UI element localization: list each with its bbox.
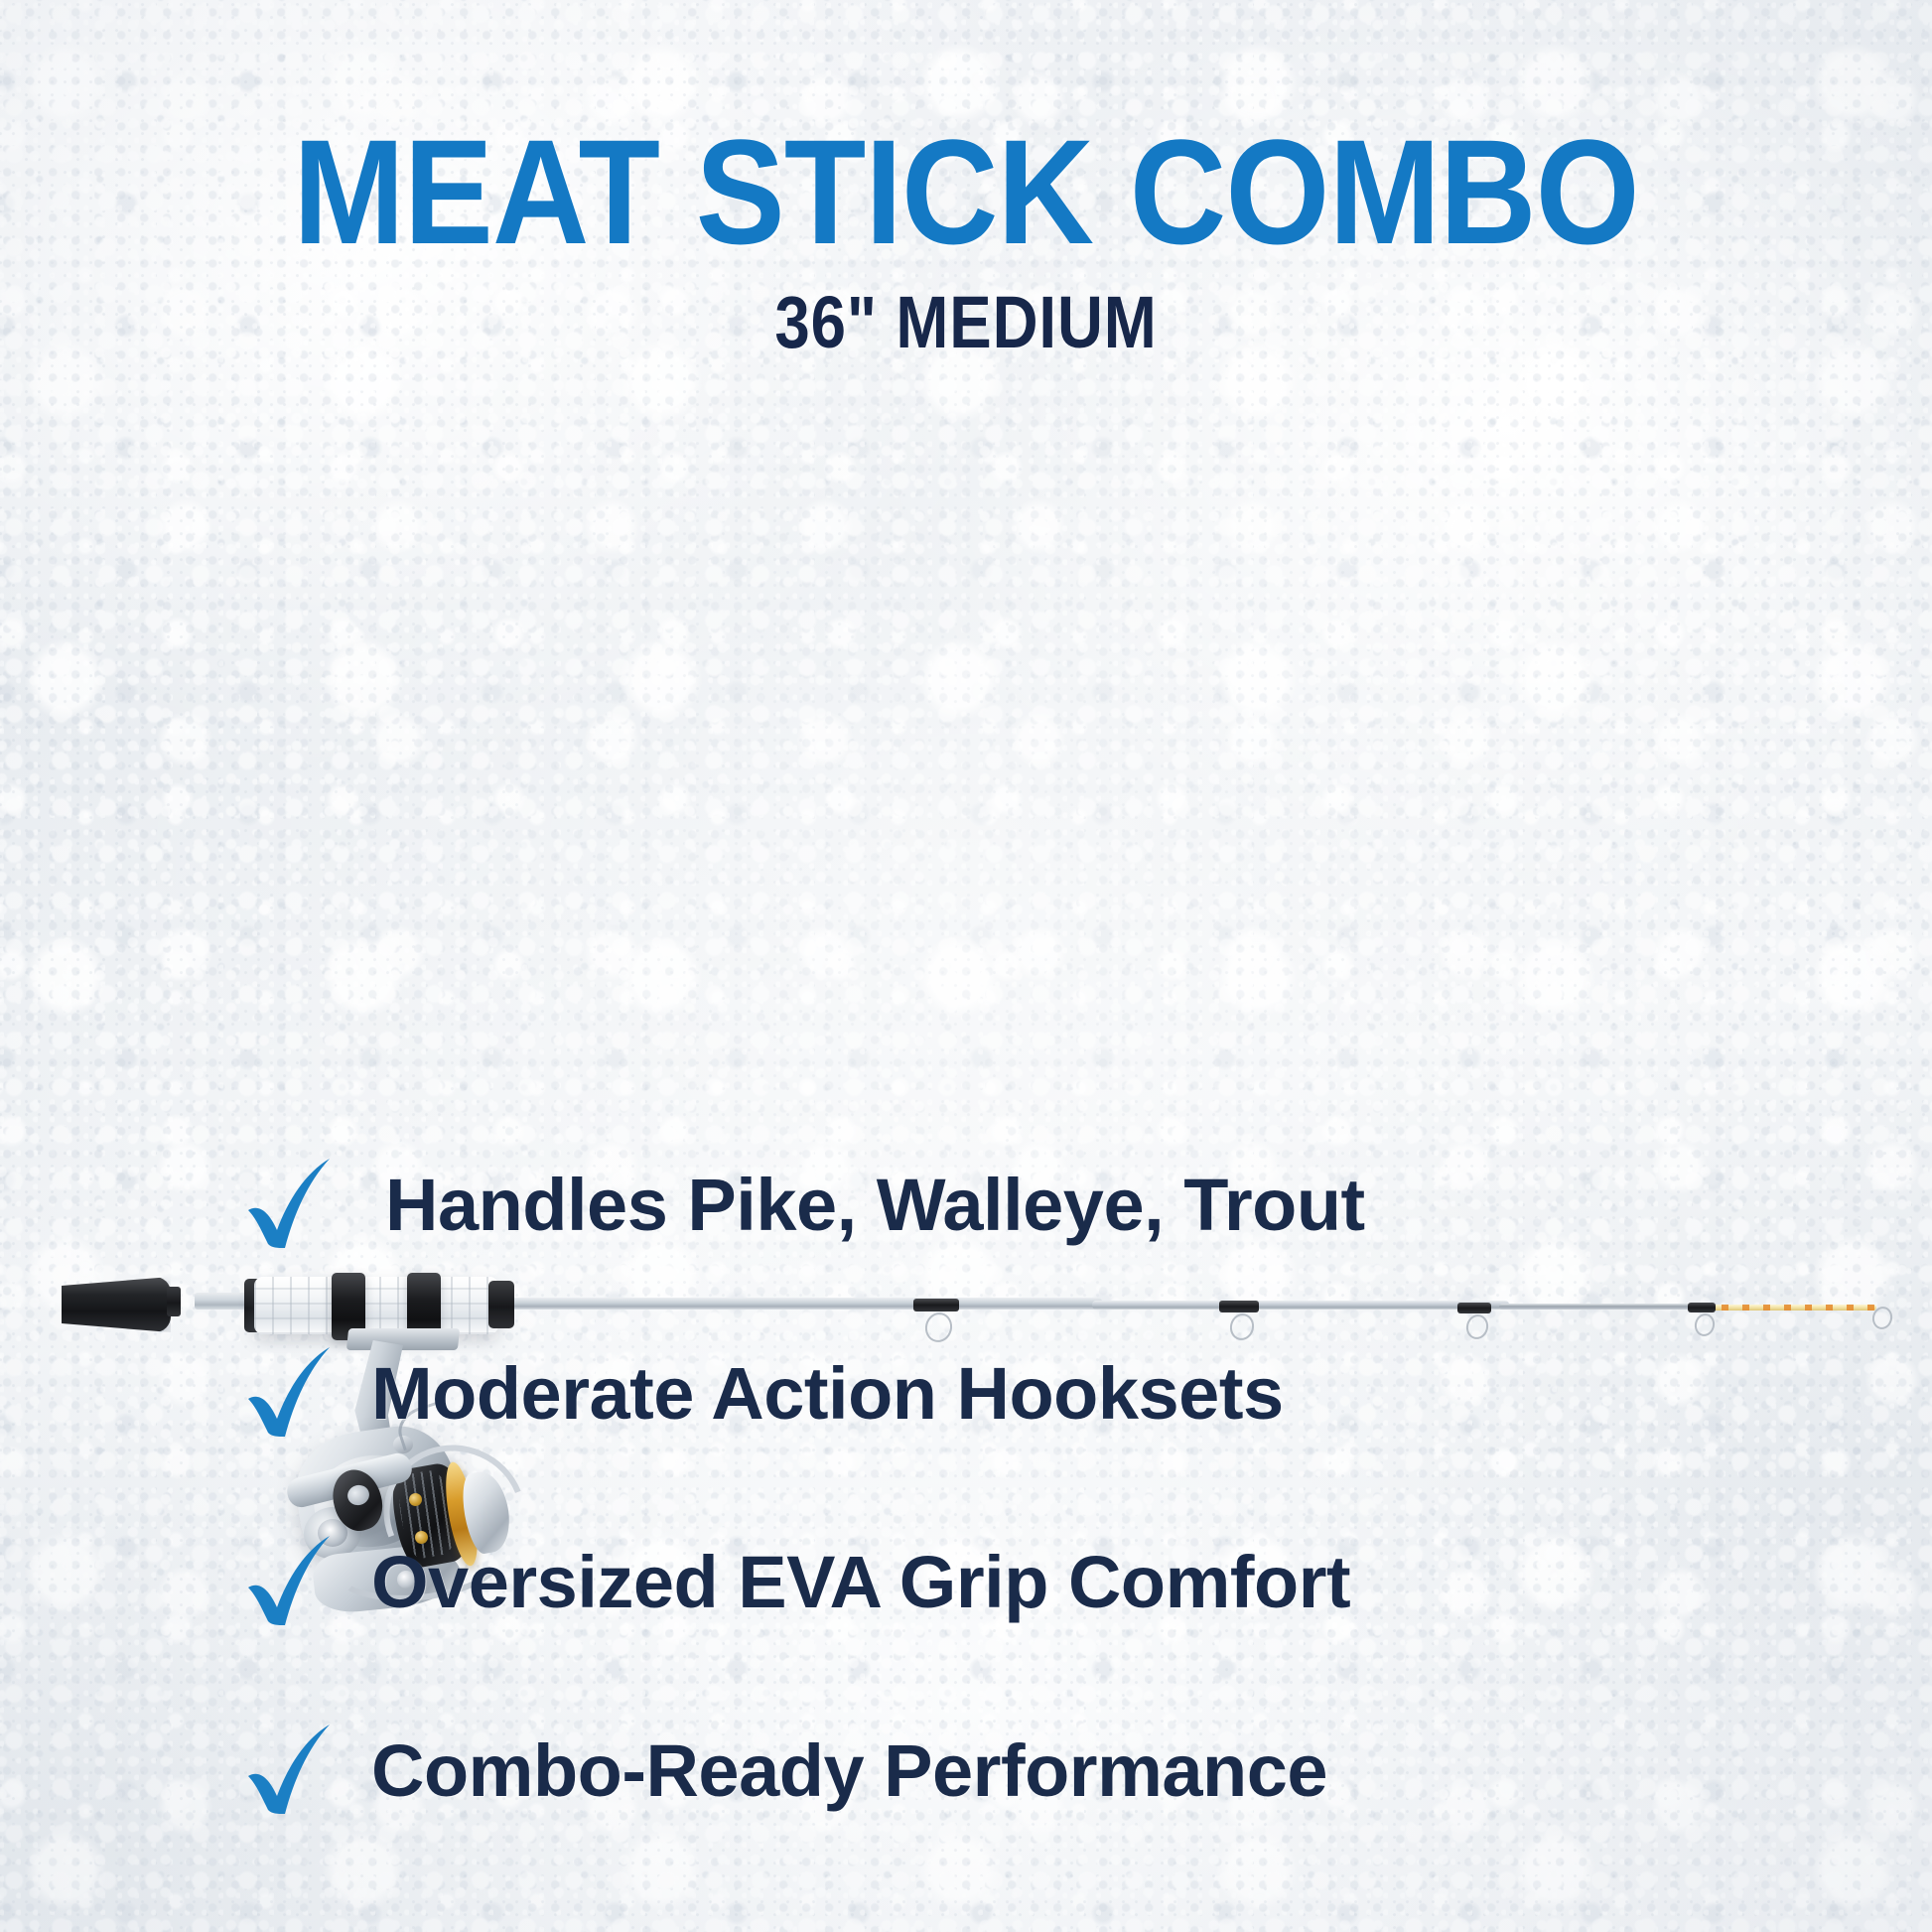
feature-label: Combo-Ready Performance: [371, 1728, 1327, 1813]
feature-label: Handles Pike, Walleye, Trout: [385, 1163, 1365, 1247]
check-icon: [244, 1157, 340, 1252]
feature-label: Moderate Action Hooksets: [371, 1351, 1284, 1436]
page-subtitle: 36" MEDIUM: [135, 286, 1797, 359]
product-poster: MEAT STICK COMBO 36" MEDIUM: [0, 0, 1932, 1932]
check-icon: [244, 1534, 340, 1629]
list-item: Combo-Ready Performance: [244, 1676, 1733, 1864]
header-block: MEAT STICK COMBO 36" MEDIUM: [0, 117, 1932, 359]
butt-collar: [167, 1287, 181, 1316]
check-icon: [244, 1345, 340, 1441]
feature-list: Handles Pike, Walleye, Trout Moderate Ac…: [244, 1110, 1733, 1864]
check-icon: [244, 1723, 340, 1818]
page-title: MEAT STICK COMBO: [96, 117, 1835, 266]
list-item: Oversized EVA Grip Comfort: [244, 1487, 1733, 1676]
list-item: Handles Pike, Walleye, Trout: [244, 1110, 1733, 1299]
rod-and-reel-assembly: [0, 616, 1932, 1033]
product-image: [0, 616, 1932, 1033]
black-eva-butt-cap: [62, 1277, 171, 1332]
list-item: Moderate Action Hooksets: [244, 1299, 1733, 1487]
feature-label: Oversized EVA Grip Comfort: [371, 1540, 1350, 1624]
